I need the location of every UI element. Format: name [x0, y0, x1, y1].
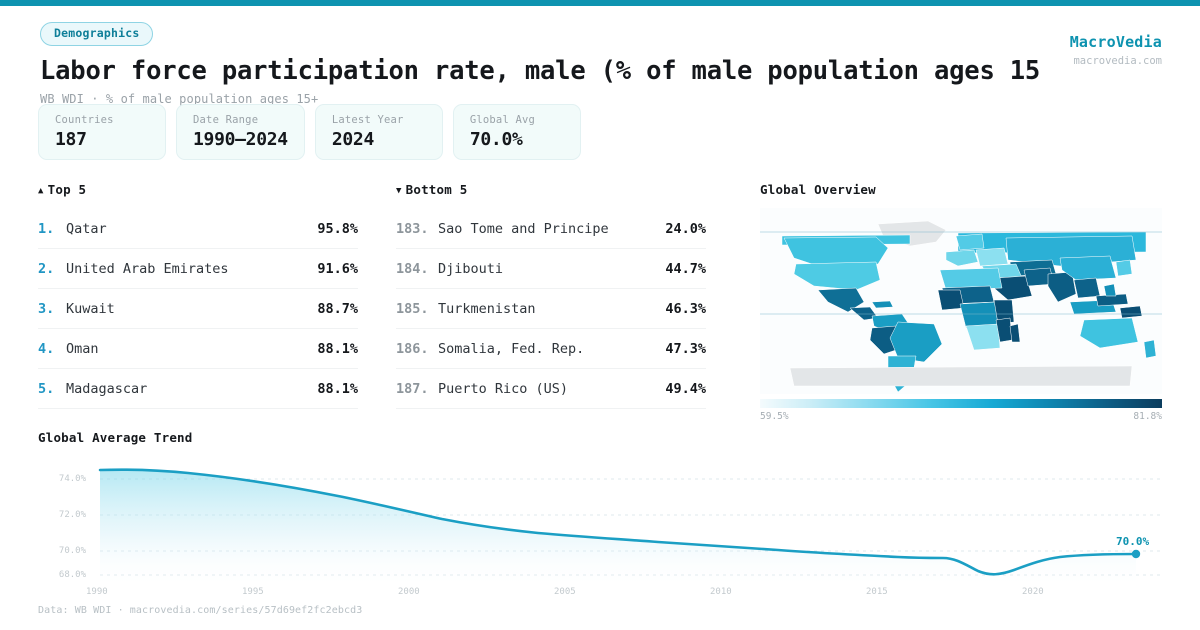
country-value: 49.4% — [665, 381, 706, 397]
list-item[interactable]: 184. Djibouti 44.7% — [396, 249, 706, 289]
list-item[interactable]: 2. United Arab Emirates 91.6% — [38, 249, 358, 289]
y-tick-label: 74.0% — [42, 474, 86, 484]
stat-value: 70.0% — [470, 129, 564, 150]
bottom-heading-label: Bottom 5 — [406, 182, 468, 197]
global-average-trend-panel: Global Average Trend — [38, 430, 1162, 587]
country-value: 46.3% — [665, 301, 706, 317]
top-ranking-panel: ▲Top 5 1. Qatar 95.8% 2. United Arab Emi… — [38, 182, 358, 409]
trend-area-fill — [100, 470, 1136, 585]
map-color-legend — [760, 399, 1162, 408]
stat-card-global-avg: Global Avg 70.0% — [453, 104, 581, 160]
rank-number: 5. — [38, 381, 66, 397]
country-value: 95.8% — [317, 221, 358, 237]
country-value: 44.7% — [665, 261, 706, 277]
bottom-ranking-panel: ▼Bottom 5 183. Sao Tome and Principe 24.… — [396, 182, 706, 409]
x-tick-label: 1990 — [86, 587, 108, 597]
x-tick-label: 1995 — [242, 587, 264, 597]
trend-heading: Global Average Trend — [38, 430, 1162, 445]
legend-min-label: 59.5% — [760, 411, 789, 422]
country-value: 47.3% — [665, 341, 706, 357]
y-tick-label: 72.0% — [42, 510, 86, 520]
legend-max-label: 81.8% — [1133, 411, 1162, 422]
list-item[interactable]: 186. Somalia, Fed. Rep. 47.3% — [396, 329, 706, 369]
rank-number: 186. — [396, 341, 438, 357]
world-map-svg — [760, 208, 1162, 394]
country-name: Djibouti — [438, 261, 665, 277]
brand-name: MacroVedia — [1070, 33, 1162, 51]
country-value: 88.1% — [317, 381, 358, 397]
stat-label: Global Avg — [470, 114, 564, 126]
country-name: Somalia, Fed. Rep. — [438, 341, 665, 357]
country-name: Turkmenistan — [438, 301, 665, 317]
map-legend-labels: 59.5% 81.8% — [760, 411, 1162, 422]
triangle-up-icon: ▲ — [38, 186, 44, 196]
top-ranking-list: 1. Qatar 95.8% 2. United Arab Emirates 9… — [38, 209, 358, 409]
list-item[interactable]: 5. Madagascar 88.1% — [38, 369, 358, 409]
trend-chart[interactable]: 74.0% 72.0% 70.0% 68.0% 1990 1995 2000 2… — [38, 457, 1162, 587]
country-name: Madagascar — [66, 381, 317, 397]
list-item[interactable]: 4. Oman 88.1% — [38, 329, 358, 369]
triangle-down-icon: ▼ — [396, 186, 402, 196]
stat-card-date-range: Date Range 1990–2024 — [176, 104, 305, 160]
global-overview-panel: Global Overview — [760, 182, 1162, 422]
country-name: Sao Tome and Principe — [438, 221, 665, 237]
country-name: Kuwait — [66, 301, 317, 317]
rank-number: 2. — [38, 261, 66, 277]
rank-number: 4. — [38, 341, 66, 357]
list-item[interactable]: 183. Sao Tome and Principe 24.0% — [396, 209, 706, 249]
stat-value: 1990–2024 — [193, 129, 288, 150]
country-name: Qatar — [66, 221, 317, 237]
stat-card-countries: Countries 187 — [38, 104, 166, 160]
country-value: 88.1% — [317, 341, 358, 357]
list-item[interactable]: 187. Puerto Rico (US) 49.4% — [396, 369, 706, 409]
stat-label: Countries — [55, 114, 149, 126]
category-badge[interactable]: Demographics — [40, 22, 153, 46]
page-title: Labor force participation rate, male (% … — [40, 57, 1040, 86]
country-name: United Arab Emirates — [66, 261, 317, 277]
rank-number: 183. — [396, 221, 438, 237]
stat-label: Latest Year — [332, 114, 426, 126]
stat-value: 2024 — [332, 129, 426, 150]
stat-card-latest-year: Latest Year 2024 — [315, 104, 443, 160]
country-value: 91.6% — [317, 261, 358, 277]
rank-number: 184. — [396, 261, 438, 277]
trend-chart-svg — [38, 457, 1162, 587]
country-name: Puerto Rico (US) — [438, 381, 665, 397]
list-item[interactable]: 1. Qatar 95.8% — [38, 209, 358, 249]
rank-number: 3. — [38, 301, 66, 317]
list-item[interactable]: 3. Kuwait 88.7% — [38, 289, 358, 329]
footer-source: Data: WB WDI · macrovedia.com/series/57d… — [38, 605, 362, 616]
world-choropleth-map[interactable] — [760, 208, 1162, 394]
rank-number: 1. — [38, 221, 66, 237]
x-tick-label: 2005 — [554, 587, 576, 597]
brand: MacroVedia macrovedia.com — [1070, 33, 1162, 67]
x-tick-label: 2000 — [398, 587, 420, 597]
bottom-ranking-list: 183. Sao Tome and Principe 24.0% 184. Dj… — [396, 209, 706, 409]
top-heading-label: Top 5 — [48, 182, 87, 197]
brand-url: macrovedia.com — [1070, 55, 1162, 67]
map-heading: Global Overview — [760, 182, 1162, 197]
trend-end-point — [1132, 550, 1140, 558]
country-value: 24.0% — [665, 221, 706, 237]
y-tick-label: 68.0% — [42, 570, 86, 580]
poster-root: Demographics Labor force participation r… — [0, 0, 1200, 630]
top-ranking-heading: ▲Top 5 — [38, 182, 358, 197]
y-tick-label: 70.0% — [42, 546, 86, 556]
x-tick-label: 2015 — [866, 587, 888, 597]
stat-label: Date Range — [193, 114, 288, 126]
x-tick-label: 2010 — [710, 587, 732, 597]
rank-number: 185. — [396, 301, 438, 317]
trend-end-label: 70.0% — [1116, 535, 1149, 548]
top-accent-bar — [0, 0, 1200, 6]
stat-cards: Countries 187 Date Range 1990–2024 Lates… — [38, 104, 581, 160]
list-item[interactable]: 185. Turkmenistan 46.3% — [396, 289, 706, 329]
stat-value: 187 — [55, 129, 149, 150]
country-name: Oman — [66, 341, 317, 357]
bottom-ranking-heading: ▼Bottom 5 — [396, 182, 706, 197]
rank-number: 187. — [396, 381, 438, 397]
country-value: 88.7% — [317, 301, 358, 317]
header: Demographics Labor force participation r… — [40, 22, 1040, 106]
x-tick-label: 2020 — [1022, 587, 1044, 597]
